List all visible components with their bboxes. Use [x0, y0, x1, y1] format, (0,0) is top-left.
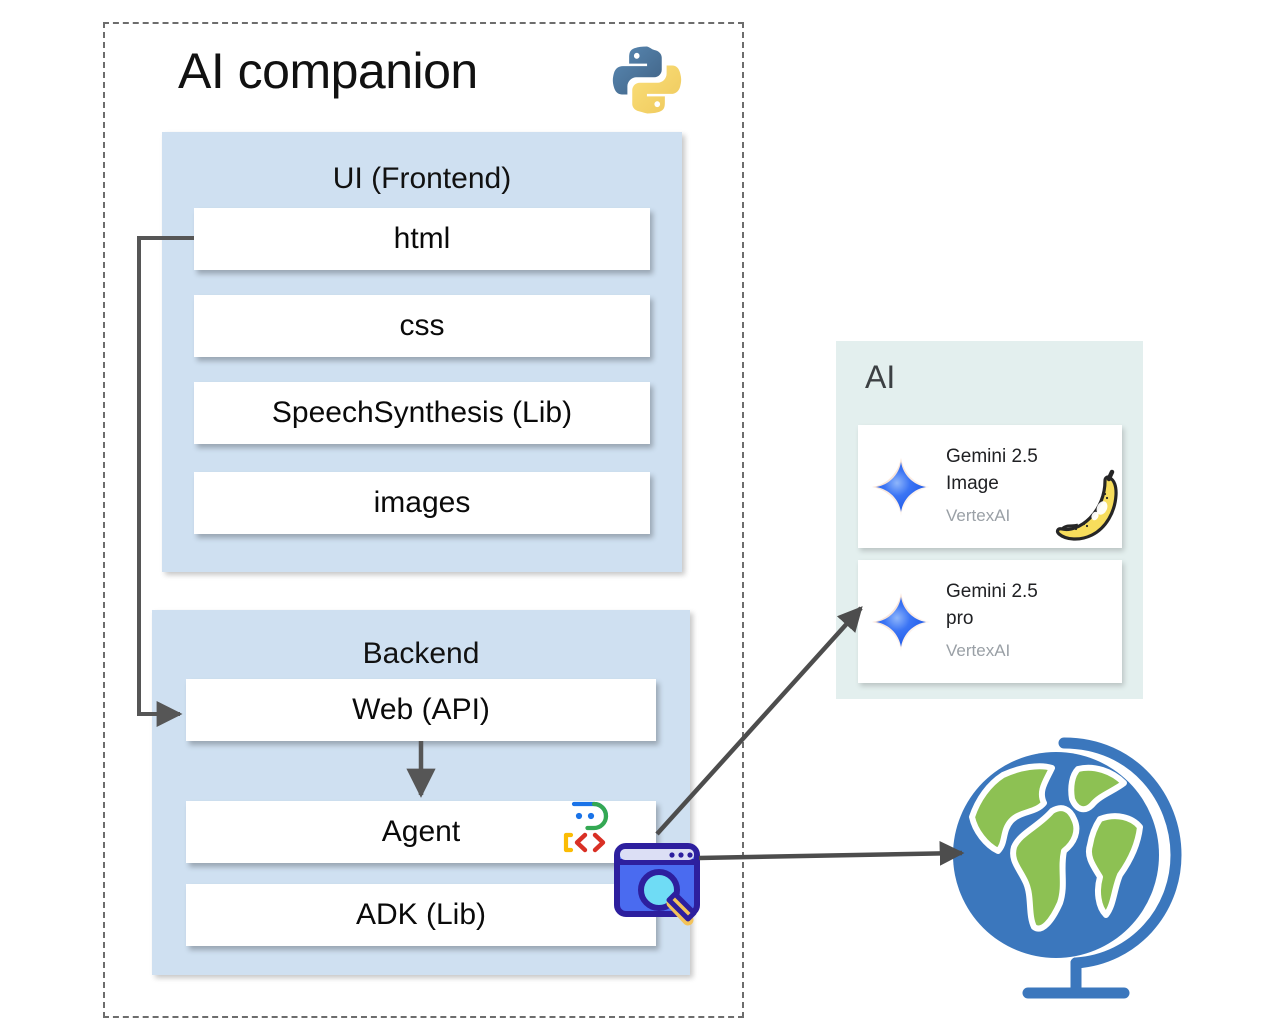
frontend-item-label: html [394, 221, 451, 257]
ai-model-name: Gemini 2.5 pro [946, 578, 1066, 632]
group-frontend-title: UI (Frontend) [162, 160, 682, 198]
gemini-sparkle-icon [870, 591, 932, 653]
backend-item-web-api[interactable]: Web (API) [186, 679, 656, 741]
banana-icon [1048, 468, 1126, 546]
adk-logo-icon [560, 800, 612, 854]
frontend-item-css[interactable]: css [194, 295, 650, 357]
frontend-item-label: images [374, 485, 471, 521]
backend-item-label: Agent [382, 814, 460, 850]
python-logo-icon [609, 42, 685, 118]
frontend-item-speechsynthesis[interactable]: SpeechSynthesis (Lib) [194, 382, 650, 444]
group-ai-title: AI [865, 356, 895, 398]
frontend-item-images[interactable]: images [194, 472, 650, 534]
gemini-sparkle-icon [870, 456, 932, 518]
web-search-icon [612, 838, 708, 934]
frontend-item-label: SpeechSynthesis (Lib) [272, 395, 572, 431]
backend-item-adk-lib[interactable]: ADK (Lib) [186, 884, 656, 946]
ai-model-provider: VertexAI [946, 641, 1114, 661]
frontend-item-html[interactable]: html [194, 208, 650, 270]
ai-model-info: Gemini 2.5 pro VertexAI [946, 578, 1114, 661]
globe-icon [948, 727, 1186, 1002]
ai-model-card-gemini-pro[interactable]: Gemini 2.5 pro VertexAI [858, 560, 1122, 683]
backend-item-label: ADK (Lib) [356, 897, 486, 933]
frontend-item-label: css [400, 308, 445, 344]
group-backend-title: Backend [152, 635, 690, 673]
ai-model-card-gemini-image[interactable]: Gemini 2.5 Image VertexAI [858, 425, 1122, 548]
page-title: AI companion [178, 40, 478, 102]
backend-item-label: Web (API) [352, 692, 490, 728]
